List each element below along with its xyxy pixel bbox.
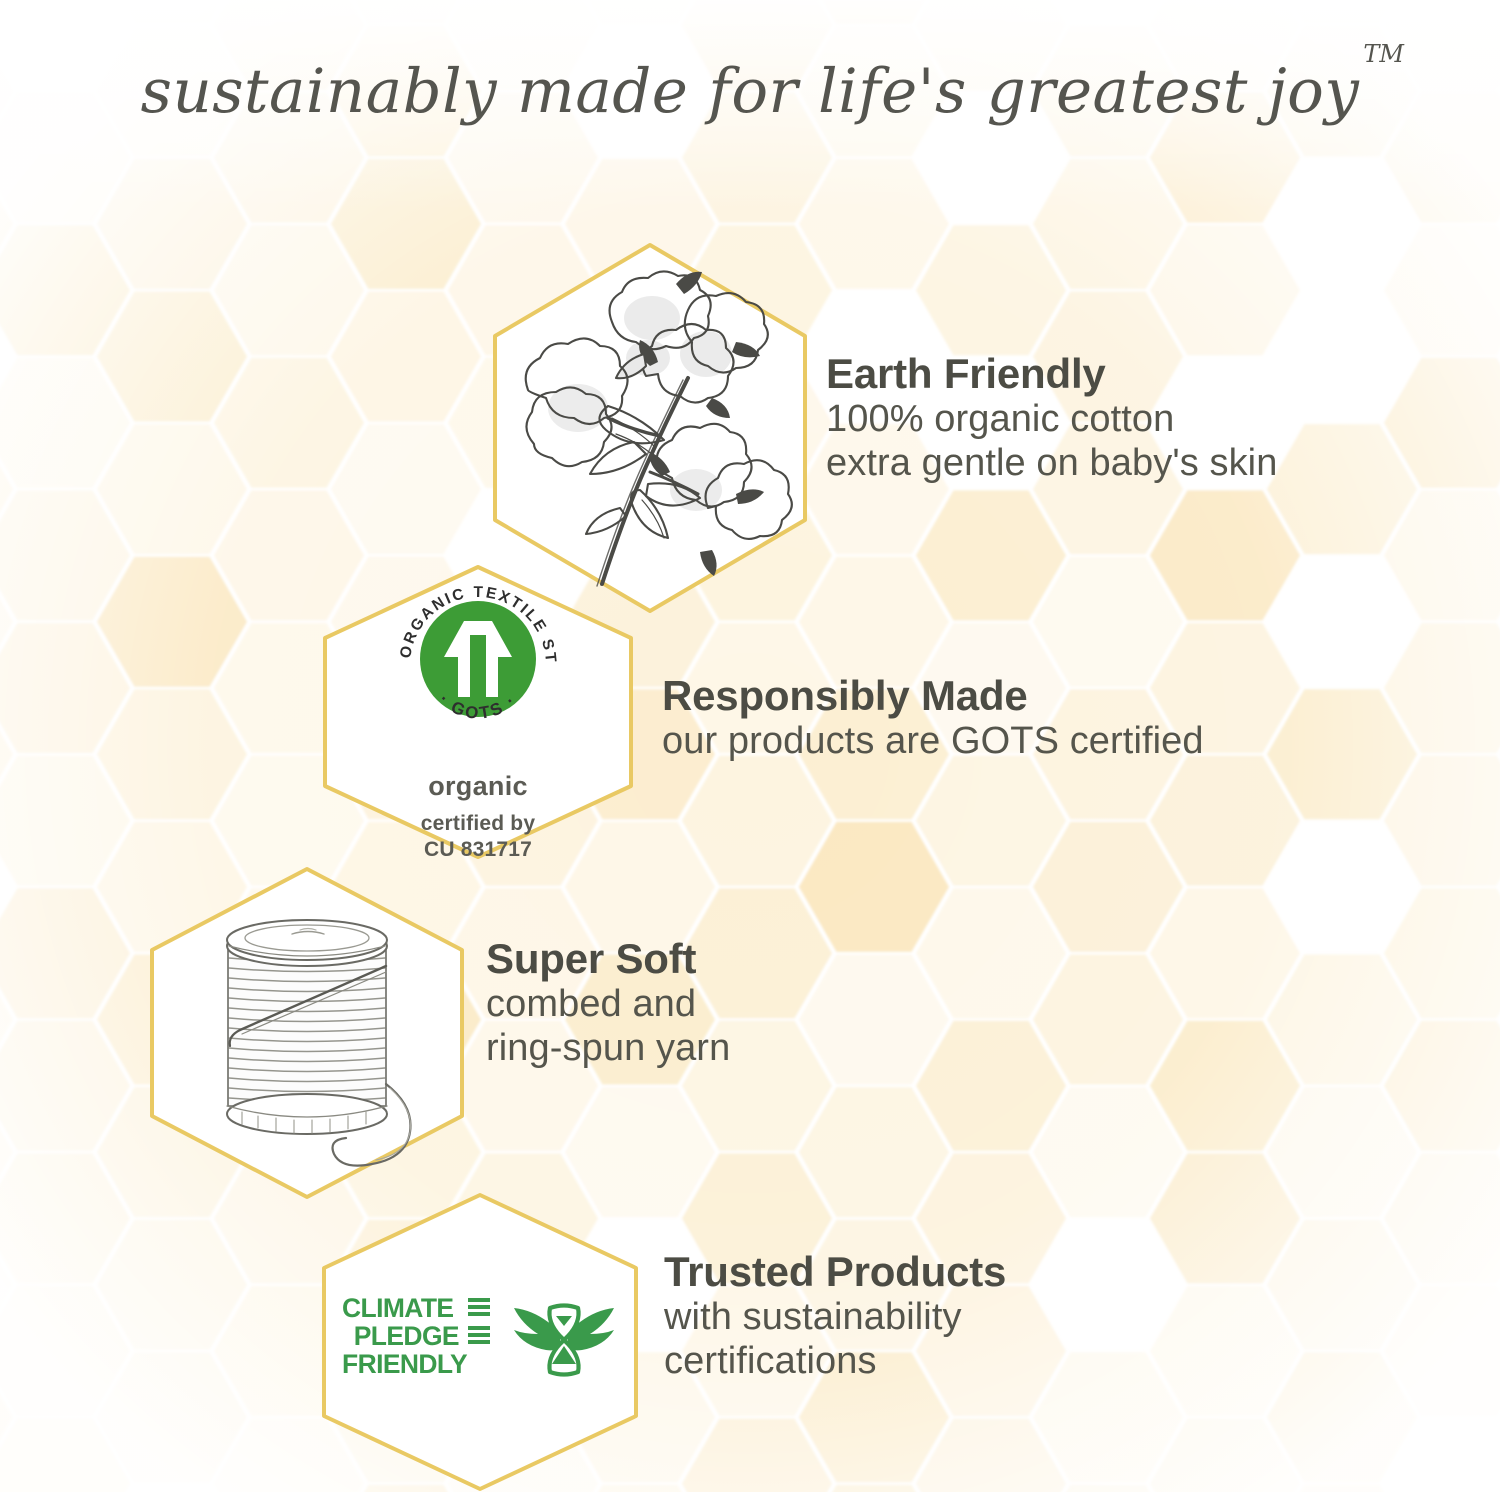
background-honeycomb-pattern — [0, 0, 1500, 1492]
trademark-symbol: TM — [1363, 40, 1405, 68]
headline-script-text: sustainably made for life's greatest joy — [141, 56, 1361, 127]
headline-banner: sustainably made for life's greatest joy… — [0, 30, 1500, 150]
